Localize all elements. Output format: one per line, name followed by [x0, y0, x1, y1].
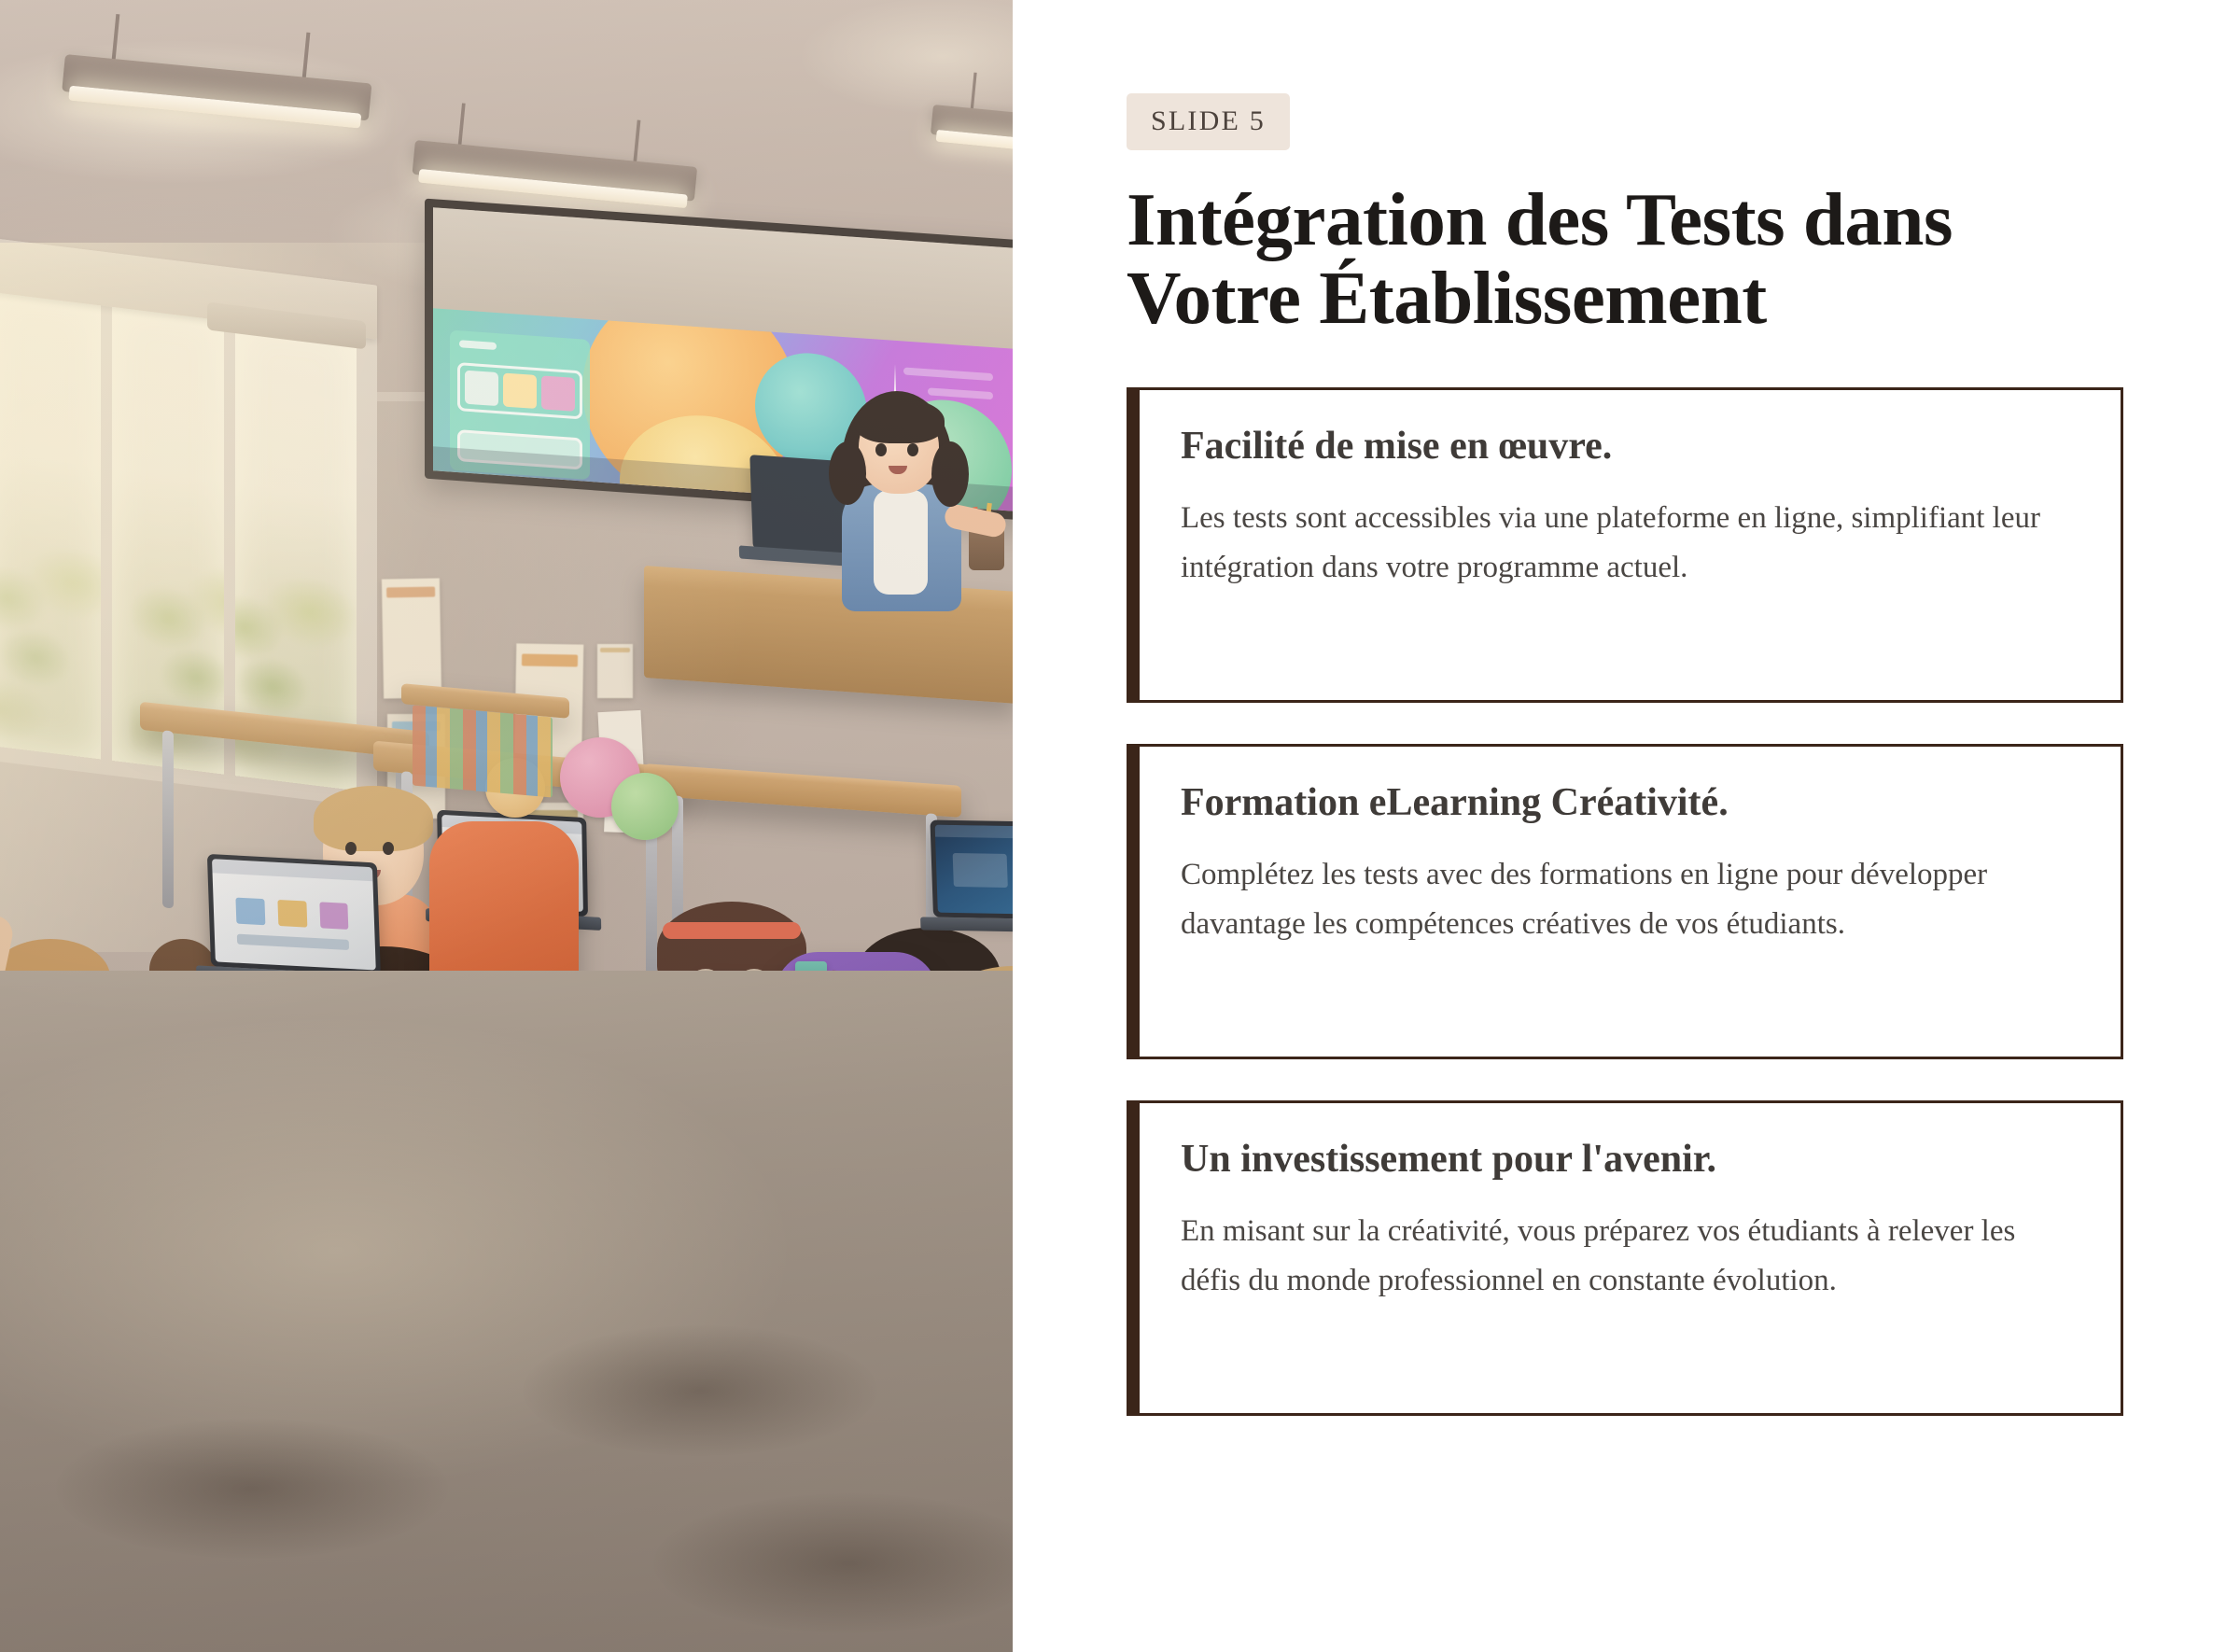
feature-card-list: Facilité de mise en œuvre. Les tests son…: [1127, 387, 2123, 1416]
feature-card-2-title: Formation eLearning Créativité.: [1181, 780, 2079, 825]
feature-card-1-title: Facilité de mise en œuvre.: [1181, 424, 2079, 469]
feature-card-2[interactable]: Formation eLearning Créativité. Compléte…: [1127, 744, 2123, 1059]
student-laptop: [930, 820, 1013, 920]
wall-poster: [597, 644, 633, 698]
feature-card-1[interactable]: Facilité de mise en œuvre. Les tests son…: [1127, 387, 2123, 703]
slide-number-badge: SLIDE 5: [1127, 93, 1290, 150]
feature-card-1-body: Les tests sont accessibles via une plate…: [1181, 494, 2079, 594]
student-laptop: [207, 854, 381, 975]
books: [413, 705, 553, 797]
classroom-illustration: [0, 0, 1013, 1652]
feature-card-3[interactable]: Un investissement pour l'avenir. En misa…: [1127, 1100, 2123, 1416]
teacher-figure: [821, 387, 1008, 630]
floor-shadow: [523, 1325, 877, 1456]
exercise-ball: [611, 773, 679, 840]
feature-card-3-body: En misant sur la créativité, vous prépar…: [1181, 1207, 2079, 1307]
page-title: Intégration des Tests dans Votre Établis…: [1127, 180, 2079, 337]
wall-poster: [382, 578, 441, 698]
content-pane: SLIDE 5 Intégration des Tests dans Votre…: [1013, 0, 2240, 1652]
feature-card-2-body: Complétez les tests avec des formations …: [1181, 850, 2079, 950]
feature-card-3-title: Un investissement pour l'avenir.: [1181, 1137, 2079, 1182]
slide-root: SLIDE 5 Intégration des Tests dans Votre…: [0, 0, 2240, 1652]
floor-shadow: [56, 1419, 448, 1559]
